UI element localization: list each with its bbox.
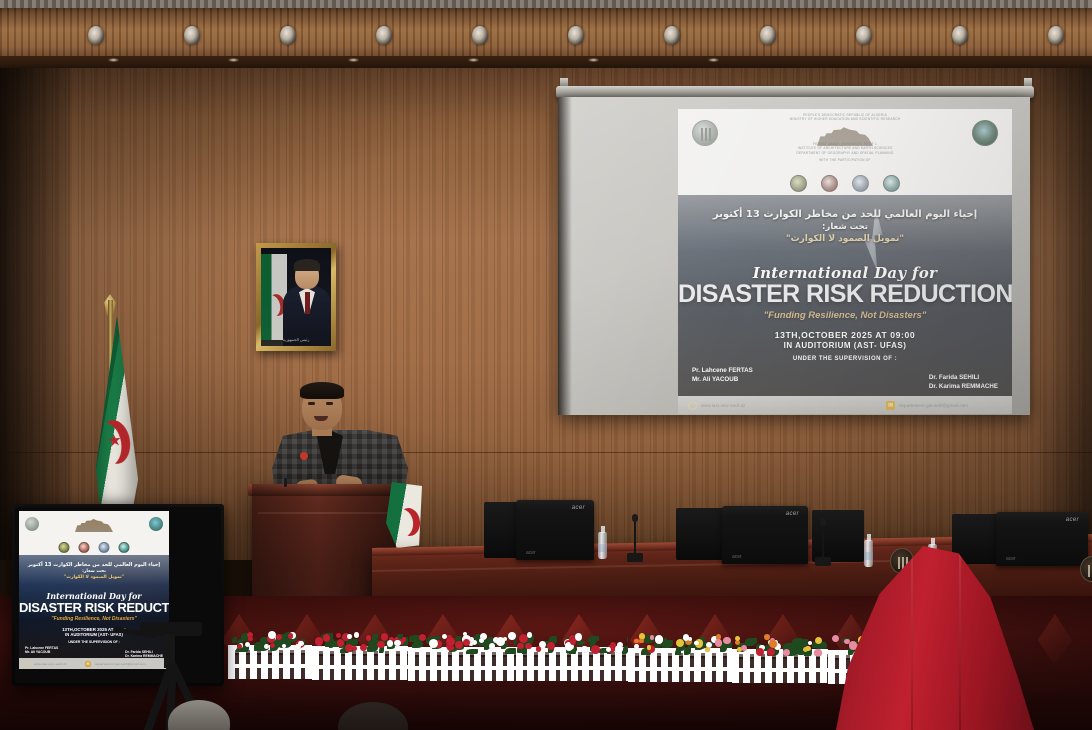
portrait-photo: رئيس الجمهورية [261,248,331,346]
flag-star-icon [107,433,122,448]
flower-bloom [683,634,689,640]
flower-bloom [248,637,252,641]
portrait-tie [305,292,310,314]
slide-date-line: 13TH,OCTOBER 2025 AT 09:00 [678,330,1012,340]
supervisor-left-2: Mr. Ali YACOUB [692,375,753,384]
flower-bloom [264,644,269,649]
flower-cluster [516,628,628,654]
partner-logo-icon-1 [790,175,807,192]
water-bottle [864,540,873,567]
preview-crest-icon [75,518,113,532]
ceiling-spotlight-icon [760,26,776,45]
ceiling-spotlight-icon [568,26,584,45]
speaker-lapel-pin [300,452,308,460]
flower-bloom [647,645,651,649]
ceiling-spotlight-icon [856,26,872,45]
flower-bloom [735,636,740,641]
flower-planter [732,649,828,683]
flower-bloom [767,648,775,656]
globe-logo-icon [972,120,998,146]
flower-bloom [496,637,505,646]
planter-rail [628,667,732,671]
slide-email: departement.gat.setif@gmail.com [899,403,968,408]
headscarf-fold-2 [959,546,961,730]
partner-logo-icon-4 [883,175,900,192]
slide-place-line: IN AUDITORIUM (AST- UFAS) [678,341,1012,350]
ceiling-glow [348,58,359,62]
slide-arabic-line-1: إحياء اليوم العالمي للحد من مخاطر الكوار… [678,195,1012,220]
flower-bloom [783,649,790,656]
flower-bloom [741,645,748,652]
panel-monitor: aceracer [996,512,1088,566]
search-icon [688,401,697,410]
flower-planter [408,647,516,681]
ceiling-spotlight-icon [472,26,488,45]
slide-website: www.iast.univ-setif.dz [701,403,745,408]
panel-monitor: aceracer [516,500,594,560]
preview-slide-header [19,511,169,555]
monitor-badge: acer [526,550,536,556]
flower-bloom [615,645,623,653]
slide-footer-email: ✉ departement.gat.setif@gmail.com [886,401,968,410]
water-bottle [598,532,607,559]
flower-bloom [705,647,711,653]
flower-planter [516,647,628,681]
flower-bloom [347,634,352,639]
speaker-eye-left [308,402,315,405]
preview-university-logo-icon [25,517,39,531]
flower-bloom [455,641,463,649]
flower-planter [312,646,408,680]
portrait-hair [294,259,320,271]
ceiling-beam [0,8,1092,56]
flower-bloom [298,641,304,647]
preview-partner-icon-3 [99,542,110,553]
supervisor-right-1: Dr. Farida SEHILI [929,373,998,382]
ceiling-glow [468,58,479,62]
flower-bloom [323,634,331,642]
planter-rail [228,664,312,668]
gooseneck-microphone [634,518,636,562]
planter-rail [312,665,408,669]
flower-bloom [419,634,426,641]
slide-participation-line: WITH THE PARTICIPATION OF [678,158,1012,162]
flower-bloom [479,638,484,643]
partner-logo-icon-2 [821,175,838,192]
slide-supervisor-names: Pr. Lahcene FERTAS Mr. Ali YACOUB Dr. Fa… [678,366,1012,391]
partner-logo-icon-3 [852,175,869,192]
headscarf-fold-1 [911,546,913,730]
flower-bloom [634,644,639,649]
microphone-capsule [820,518,826,526]
supervisors-right: Dr. Farida SEHILI Dr. Karima REMMACHE [929,366,998,391]
flower-leaf [675,649,681,655]
flower-bloom [527,632,532,637]
preview-globe-logo-icon [149,517,163,531]
flower-leaf [588,636,599,642]
flower-bloom [756,648,764,656]
supervisors-left: Pr. Lahcene FERTAS Mr. Ali YACOUB [692,366,753,391]
flower-bloom [655,635,664,644]
flower-bloom [769,640,777,648]
flower-bloom [764,634,769,639]
preview-partner-row [59,542,130,553]
flower-bloom [354,632,359,637]
flower-planter [628,648,732,682]
flower-bloom [547,642,555,650]
projected-slide: PEOPLE'S DEMOCRATIC REPUBLIC OF ALGERIA … [678,109,1012,396]
flower-cluster [228,626,312,652]
slide-footer: www.iast.univ-setif.dz ✉ departement.gat… [678,396,1012,414]
microphone-base [627,553,643,562]
speaker-hair [300,382,344,399]
planter-rail [732,668,828,672]
flower-bloom [591,645,600,654]
flower-bloom [381,633,388,640]
flower-bloom [463,639,470,646]
flower-bloom [539,641,546,648]
flower-planter [228,645,312,679]
flower-bloom [245,642,250,647]
slide-arabic-line-2: تحت شعار: [678,222,1012,232]
preview-mail-icon: ✉ [85,661,91,667]
portrait-caption: رئيس الجمهورية [261,335,331,344]
flower-cluster [312,627,408,653]
slide-footer-website: www.iast.univ-setif.dz [688,401,745,410]
projection-screen: PEOPLE'S DEMOCRATIC REPUBLIC OF ALGERIA … [558,97,1030,415]
flower-bloom [570,638,577,645]
flower-bloom [606,647,611,652]
screen-left-shadow [558,97,572,415]
monitor-rear [812,510,864,562]
ceiling-spotlight-icon [664,26,680,45]
flower-leaf [577,641,585,646]
ceiling-spotlight-icon [184,26,200,45]
slide-arabic-line-3: "تمويل الصمود لا الكوارث" [678,234,1012,244]
flower-leaf [505,648,516,653]
planter-rail [408,666,516,670]
monitor-brand-label: acer [1066,517,1079,523]
speaker-eye-right [326,402,333,405]
ceiling-spotlight-icon [952,26,968,45]
microphone-capsule [632,514,638,522]
flower-bloom [446,637,455,646]
slide-tagline: "Funding Resilience, Not Disasters" [678,310,1012,321]
flower-bloom [377,641,385,649]
preview-website: www.iast.univ-setif.dz [34,662,67,666]
slide-supervision-label: UNDER THE SUPERVISION OF : [678,356,1012,362]
flower-cluster [732,630,828,656]
flower-bloom [360,644,367,651]
preview-partner-icon-4 [119,542,130,553]
monitor-brand-label: acer [572,505,585,511]
preview-arabic-line-2: تحت شعار: [19,569,169,574]
flower-bloom [508,632,516,640]
monitor-badge: acer [1006,556,1016,562]
slide-body: إحياء اليوم العالمي للحد من مخاطر الكوار… [678,195,1012,396]
ceiling-spotlight-icon [376,26,392,45]
planter-rail [516,666,628,670]
flower-bloom [814,649,822,656]
ceiling-spotlight-icon [280,26,296,45]
slide-title-main: DISASTER RISK REDUCTION [678,280,1012,309]
preview-supervisors-left: Pr. Lahcene FERTAS Mr. Ali YACOUB [25,646,58,658]
flower-bloom [337,639,345,647]
flower-leaf [684,647,691,655]
university-logo-icon [692,120,718,146]
flower-leaf [466,649,477,653]
flower-bloom [336,633,341,638]
flower-bloom [268,631,276,639]
flower-bloom [694,641,698,645]
flower-bloom [723,637,731,645]
flower-bloom [849,641,857,649]
monitor-badge: acer [732,554,742,560]
ceiling-glow [708,58,719,62]
flower-bloom [634,639,638,643]
flower-cluster [408,628,516,654]
preview-supervisor-left-2: Mr. Ali YACOUB [25,650,58,654]
panel-monitor: aceracer [722,506,808,564]
flower-bloom [581,646,587,652]
supervisor-left-1: Pr. Lahcene FERTAS [692,366,753,375]
flower-bloom [282,644,286,648]
ceiling-glow [588,58,599,62]
preview-title-main: DISASTER RISK REDUCTION [19,600,169,615]
flower-bloom [832,635,839,642]
flower-leaf [412,642,423,648]
ceiling-glow [108,58,119,62]
preview-partner-icon-1 [59,542,70,553]
flower-cluster [628,629,732,655]
mail-icon: ✉ [886,401,895,410]
microphone-base [815,557,831,566]
flower-bloom [639,639,643,643]
gooseneck-microphone [822,522,824,566]
preview-search-icon [24,661,30,667]
flower-bloom [315,637,323,645]
ceiling-glow [228,58,239,62]
ceiling-spotlight-icon [1048,26,1064,45]
flower-bloom [387,640,393,646]
flower-bloom [394,640,400,646]
flower-bloom [650,635,654,639]
flower-bloom [805,646,810,651]
flower-bloom [715,639,723,647]
preview-arabic-line-1: إحياء اليوم العالمي للحد من مخاطر الكوار… [19,555,169,568]
presidential-portrait-frame: رئيس الجمهورية [256,243,336,351]
partner-logo-row [790,175,900,192]
preview-partner-icon-2 [79,542,90,553]
flower-bloom [815,637,822,644]
slide-header: PEOPLE'S DEMOCRATIC REPUBLIC OF ALGERIA … [678,109,1012,195]
flower-bloom [489,643,495,649]
preview-arabic-line-3: "تمويل الصمود لا الكوارث" [19,575,169,580]
auditorium-photo: رئيس الجمهورية PEOPLE'S DEMOCRATIC REPUB… [0,0,1092,730]
ceiling-spotlight-icon [88,26,104,45]
slide-department-line: DEPARTMENT OF GEOGRAPHY AND SPATIAL PLAN… [678,151,1012,155]
flower-leaf [254,642,261,651]
flower-bloom [525,643,532,650]
supervisor-right-2: Dr. Karima REMMACHE [929,382,998,391]
monitor-brand-label: acer [786,511,799,517]
monitor-rear [676,508,724,560]
